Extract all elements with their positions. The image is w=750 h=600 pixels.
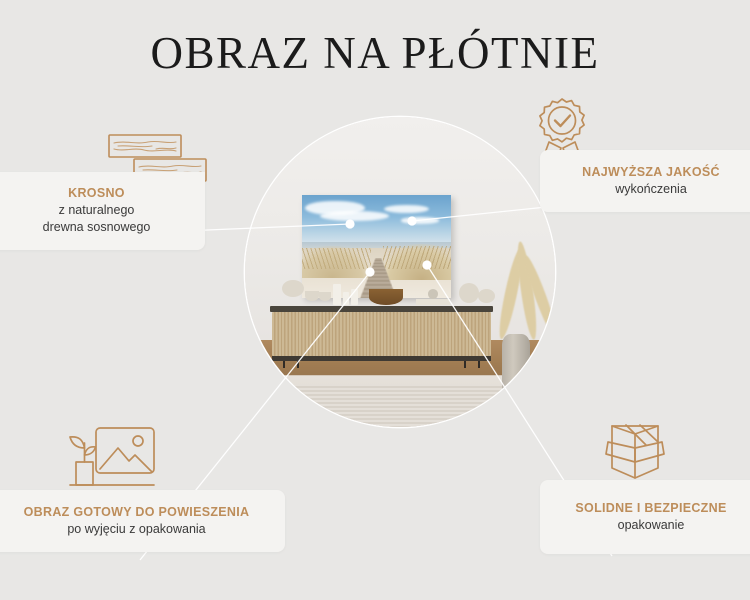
feature-card-jakosc[interactable]: NAJWYŻSZA JAKOŚĆ wykończenia — [540, 150, 750, 212]
feature-subline-1: opakowanie — [618, 517, 685, 535]
feature-card-gotowy[interactable]: OBRAZ GOTOWY DO POWIESZENIA po wyjęciu z… — [0, 490, 285, 552]
sideboard-top — [270, 306, 493, 312]
feature-subline-2: drewna sosnowego — [43, 219, 151, 237]
candle-decor — [343, 292, 350, 305]
cloud — [384, 205, 429, 213]
sideboard-leg — [464, 361, 466, 368]
feature-subline-1: po wyjęciu z opakowania — [67, 521, 205, 539]
canvas-artwork — [302, 195, 451, 299]
books-decor — [416, 299, 450, 306]
candle-decor — [333, 284, 341, 304]
sideboard-leg — [297, 361, 299, 368]
candle-decor — [351, 289, 358, 305]
artwork-grass-left — [302, 248, 370, 269]
feature-kicker: KROSNO — [68, 185, 125, 202]
artwork-grass-right — [383, 246, 451, 269]
feature-kicker: OBRAZ GOTOWY DO POWIESZENIA — [24, 504, 250, 521]
framed-picture-plant-icon — [62, 424, 166, 495]
sphere-decor — [428, 289, 439, 299]
feature-subline-1: wykończenia — [615, 181, 687, 199]
feature-kicker: SOLIDNE I BEZPIECZNE — [575, 500, 726, 517]
center-product-photo — [245, 117, 555, 427]
sideboard-base — [272, 356, 491, 360]
sideboard — [270, 306, 493, 368]
sideboard-leg — [478, 361, 480, 368]
cloud — [401, 217, 440, 223]
cardboard-box-icon — [600, 418, 670, 489]
infographic-stage: OBRAZ NA PŁÓTNIE — [0, 0, 750, 600]
vase-decor — [478, 289, 495, 303]
feature-card-krosno[interactable]: KROSNO z naturalnego drewna sosnowego — [0, 172, 205, 250]
vase-decor — [282, 280, 304, 297]
vase-decor — [459, 283, 479, 303]
wooden-bowl-decor — [369, 289, 403, 305]
room-scene — [245, 117, 555, 427]
feature-kicker: NAJWYŻSZA JAKOŚĆ — [582, 164, 720, 181]
sideboard-leg — [283, 361, 285, 368]
sideboard-slatted-front — [272, 312, 491, 357]
page-title: OBRAZ NA PŁÓTNIE — [0, 27, 750, 79]
floor-vase — [502, 334, 530, 396]
feature-card-opakowanie[interactable]: SOLIDNE I BEZPIECZNE opakowanie — [540, 480, 750, 554]
feature-subline-1: z naturalnego — [59, 202, 135, 220]
